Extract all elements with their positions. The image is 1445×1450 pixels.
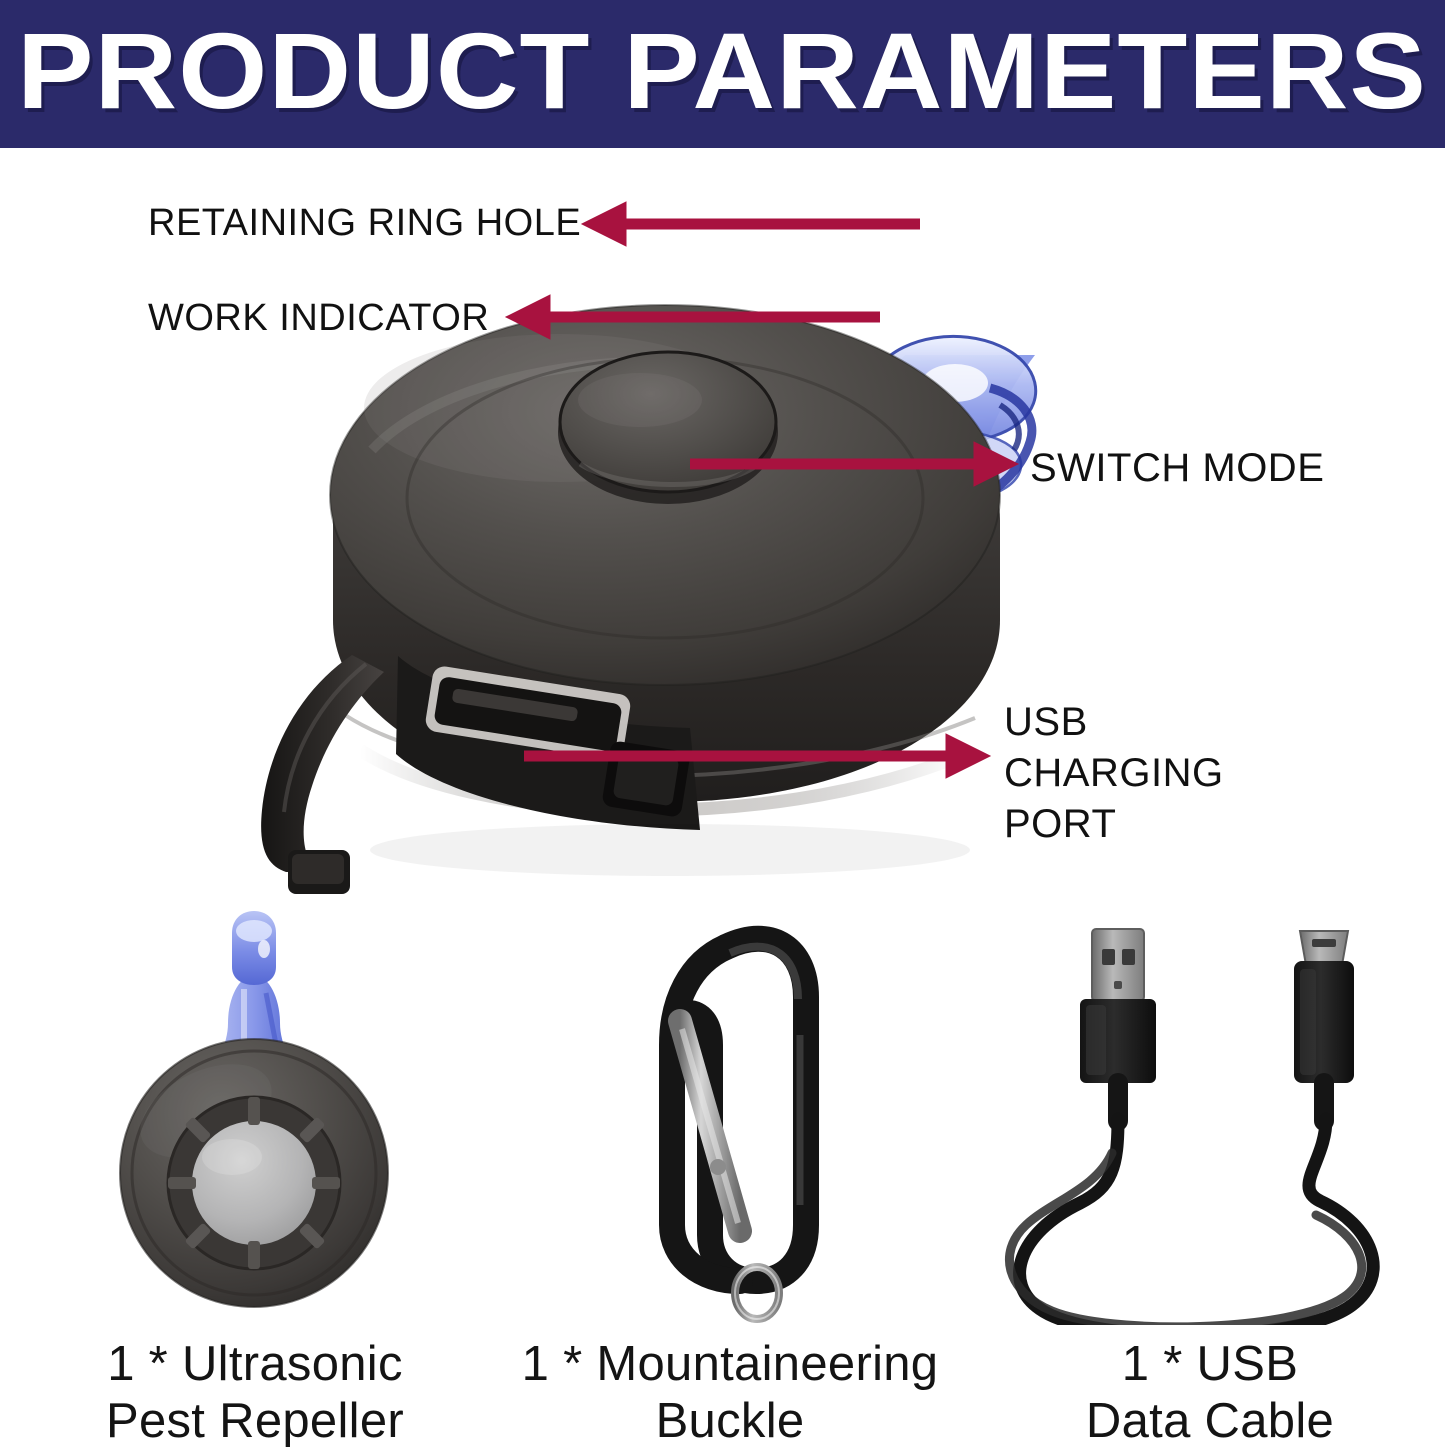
header-banner: PRODUCT PARAMETERS: [0, 0, 1445, 148]
pest-repeller-icon: [120, 911, 388, 1307]
caption-pest-repeller-line1: 1 * Ultrasonic: [20, 1336, 490, 1393]
caption-pest-repeller-line2: Pest Repeller: [20, 1393, 490, 1450]
usb-label-line-2: CHARGING: [1004, 748, 1304, 799]
usb-cable-icon: [1009, 929, 1373, 1325]
usb-label-line-3: PORT: [1004, 799, 1304, 850]
caption-pest-repeller: 1 * Ultrasonic Pest Repeller: [20, 1336, 490, 1450]
callout-label-retaining-ring-hole: RETAINING RING HOLE: [148, 198, 581, 248]
callout-label-usb-charging-port: USB CHARGING PORT: [1004, 697, 1304, 850]
included-items-svg: [0, 905, 1445, 1325]
usb-port-rubber-flap: [261, 655, 384, 894]
switch-mode-button: [558, 352, 778, 504]
caption-buckle-line2: Buckle: [480, 1393, 980, 1450]
carabiner-icon: [672, 939, 806, 1319]
caption-mountaineering-buckle: 1 * Mountaineering Buckle: [480, 1336, 980, 1450]
callout-label-work-indicator: WORK INDICATOR: [148, 293, 489, 343]
callout-label-switch-mode: SWITCH MODE: [1030, 442, 1324, 494]
page-title: PRODUCT PARAMETERS: [18, 17, 1428, 131]
caption-cable-line1: 1 * USB: [985, 1336, 1435, 1393]
caption-usb-data-cable: 1 * USB Data Cable: [985, 1336, 1435, 1450]
caption-buckle-line1: 1 * Mountaineering: [480, 1336, 980, 1393]
usb-label-line-1: USB: [1004, 697, 1304, 748]
included-items-row: [0, 905, 1445, 1325]
product-parameters-infographic: PRODUCT PARAMETERS: [0, 0, 1445, 1445]
caption-cable-line2: Data Cable: [985, 1393, 1435, 1450]
